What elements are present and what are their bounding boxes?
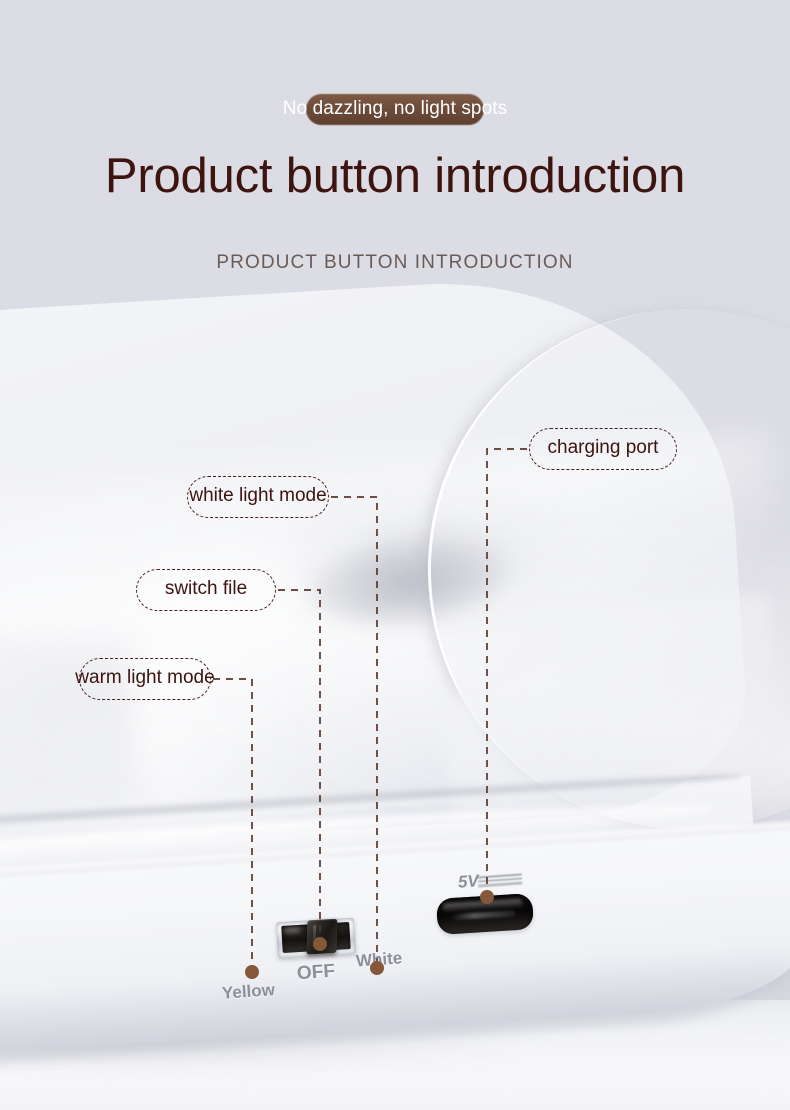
engraved-label-off: OFF xyxy=(296,961,335,986)
usb-c-charging-port xyxy=(436,893,534,935)
engraved-label-white: White xyxy=(355,948,403,971)
engraved-label-yellow: Yellow xyxy=(221,980,275,1004)
switch-highlight xyxy=(284,927,300,934)
callout-charging-port-label: charging port xyxy=(548,437,659,459)
callout-white-light-mode: white light mode xyxy=(187,476,329,518)
page-title: Product button introduction xyxy=(0,148,790,204)
tagline-badge: No dazzling, no light spots xyxy=(0,92,790,126)
callout-white-light-mode-label: white light mode xyxy=(189,485,326,507)
tagline-text: No dazzling, no light spots xyxy=(283,98,508,120)
page-subtitle: PRODUCT BUTTON INTRODUCTION xyxy=(0,252,790,274)
mode-slide-switch[interactable] xyxy=(276,918,356,959)
product-infographic-page: Yellow OFF White 5V No dazzling, no ligh… xyxy=(0,0,790,1110)
callout-charging-port: charging port xyxy=(529,428,677,470)
callout-warm-light-mode: warm light mode xyxy=(79,658,211,700)
engraved-label-voltage: 5V xyxy=(457,871,479,892)
callout-switch-file: switch file xyxy=(136,569,276,611)
callout-switch-file-label: switch file xyxy=(165,578,247,600)
callout-warm-light-mode-label: warm light mode xyxy=(75,667,214,689)
switch-knob[interactable] xyxy=(306,919,337,955)
